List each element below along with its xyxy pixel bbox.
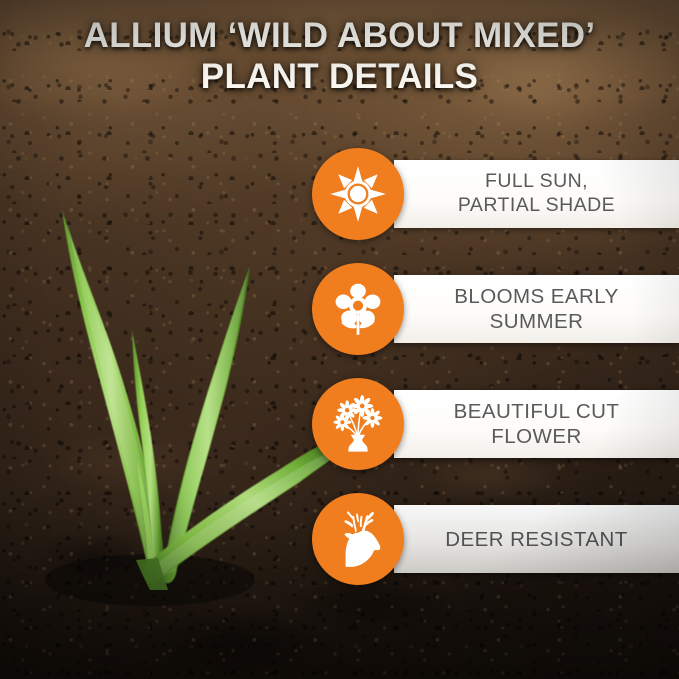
feature-badge-blooms (312, 263, 404, 355)
deer-head-icon (327, 508, 389, 570)
feature-badge-full-sun (312, 148, 404, 240)
vase-flowers-icon (328, 394, 388, 454)
feature-badge-deer-resistant (312, 493, 404, 585)
flower-icon (330, 281, 386, 337)
sun-icon (329, 165, 387, 223)
feature-badge-cut-flower (312, 378, 404, 470)
plant-details-card: ALLIUM ‘WILD ABOUT MIXED’ PLANT DETAILS … (0, 0, 679, 679)
